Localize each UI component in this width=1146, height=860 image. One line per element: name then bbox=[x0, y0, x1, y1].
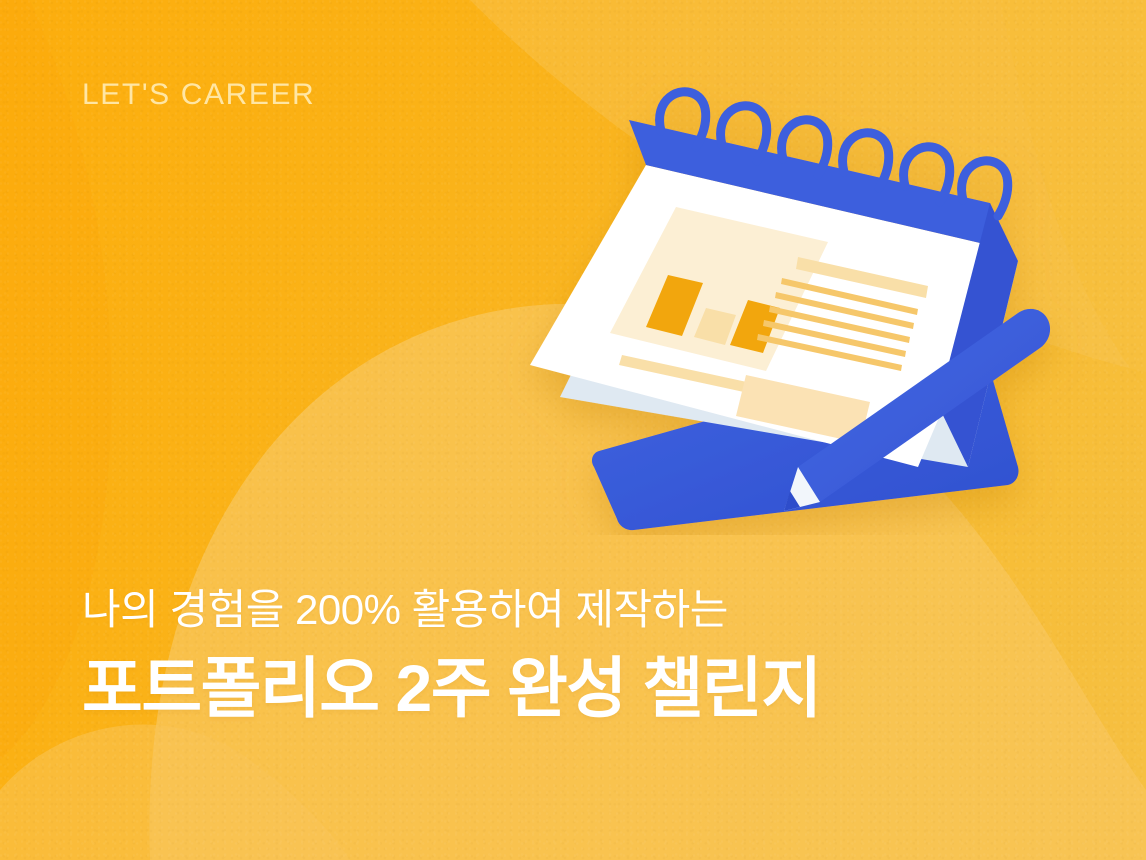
notepad-group bbox=[530, 92, 1050, 530]
banner-headline: 포트폴리오 2주 완성 챌린지 bbox=[82, 651, 1082, 726]
notepad-illustration bbox=[498, 75, 1098, 535]
promo-banner: LET'S CAREER bbox=[0, 0, 1146, 860]
banner-subtitle: 나의 경험을 200% 활용하여 제작하는 bbox=[82, 586, 1082, 635]
brand-logo-text: LET'S CAREER bbox=[82, 78, 315, 112]
headline-block: 나의 경험을 200% 활용하여 제작하는 포트폴리오 2주 완성 챌린지 bbox=[82, 586, 1082, 726]
